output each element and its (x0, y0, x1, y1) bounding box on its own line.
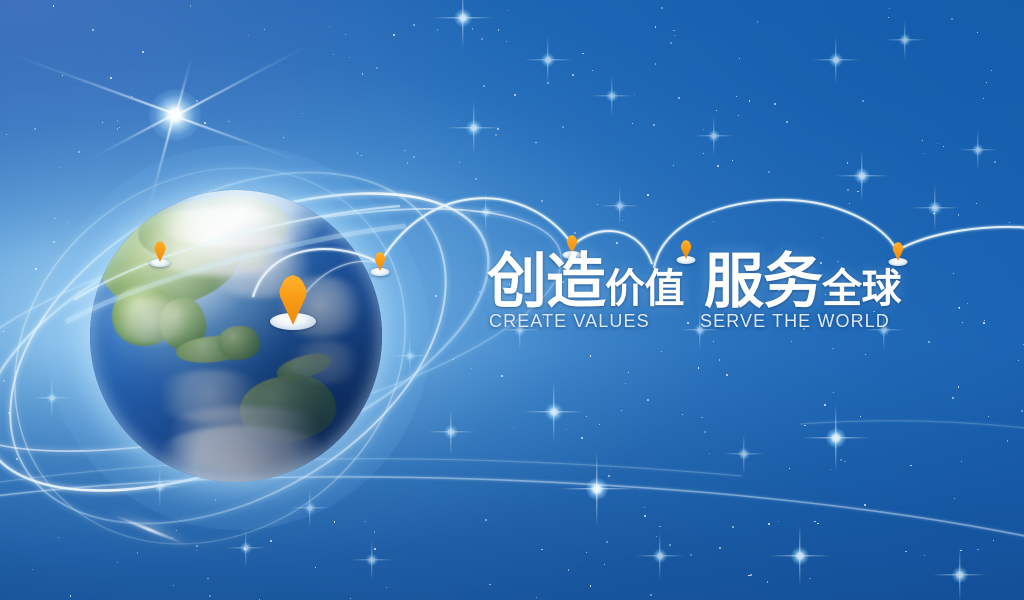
banner-canvas: 创造 价值 服务 全球 CREATE VALUES SERVE THE WORL… (0, 0, 1024, 600)
background-vignette (0, 0, 1024, 600)
